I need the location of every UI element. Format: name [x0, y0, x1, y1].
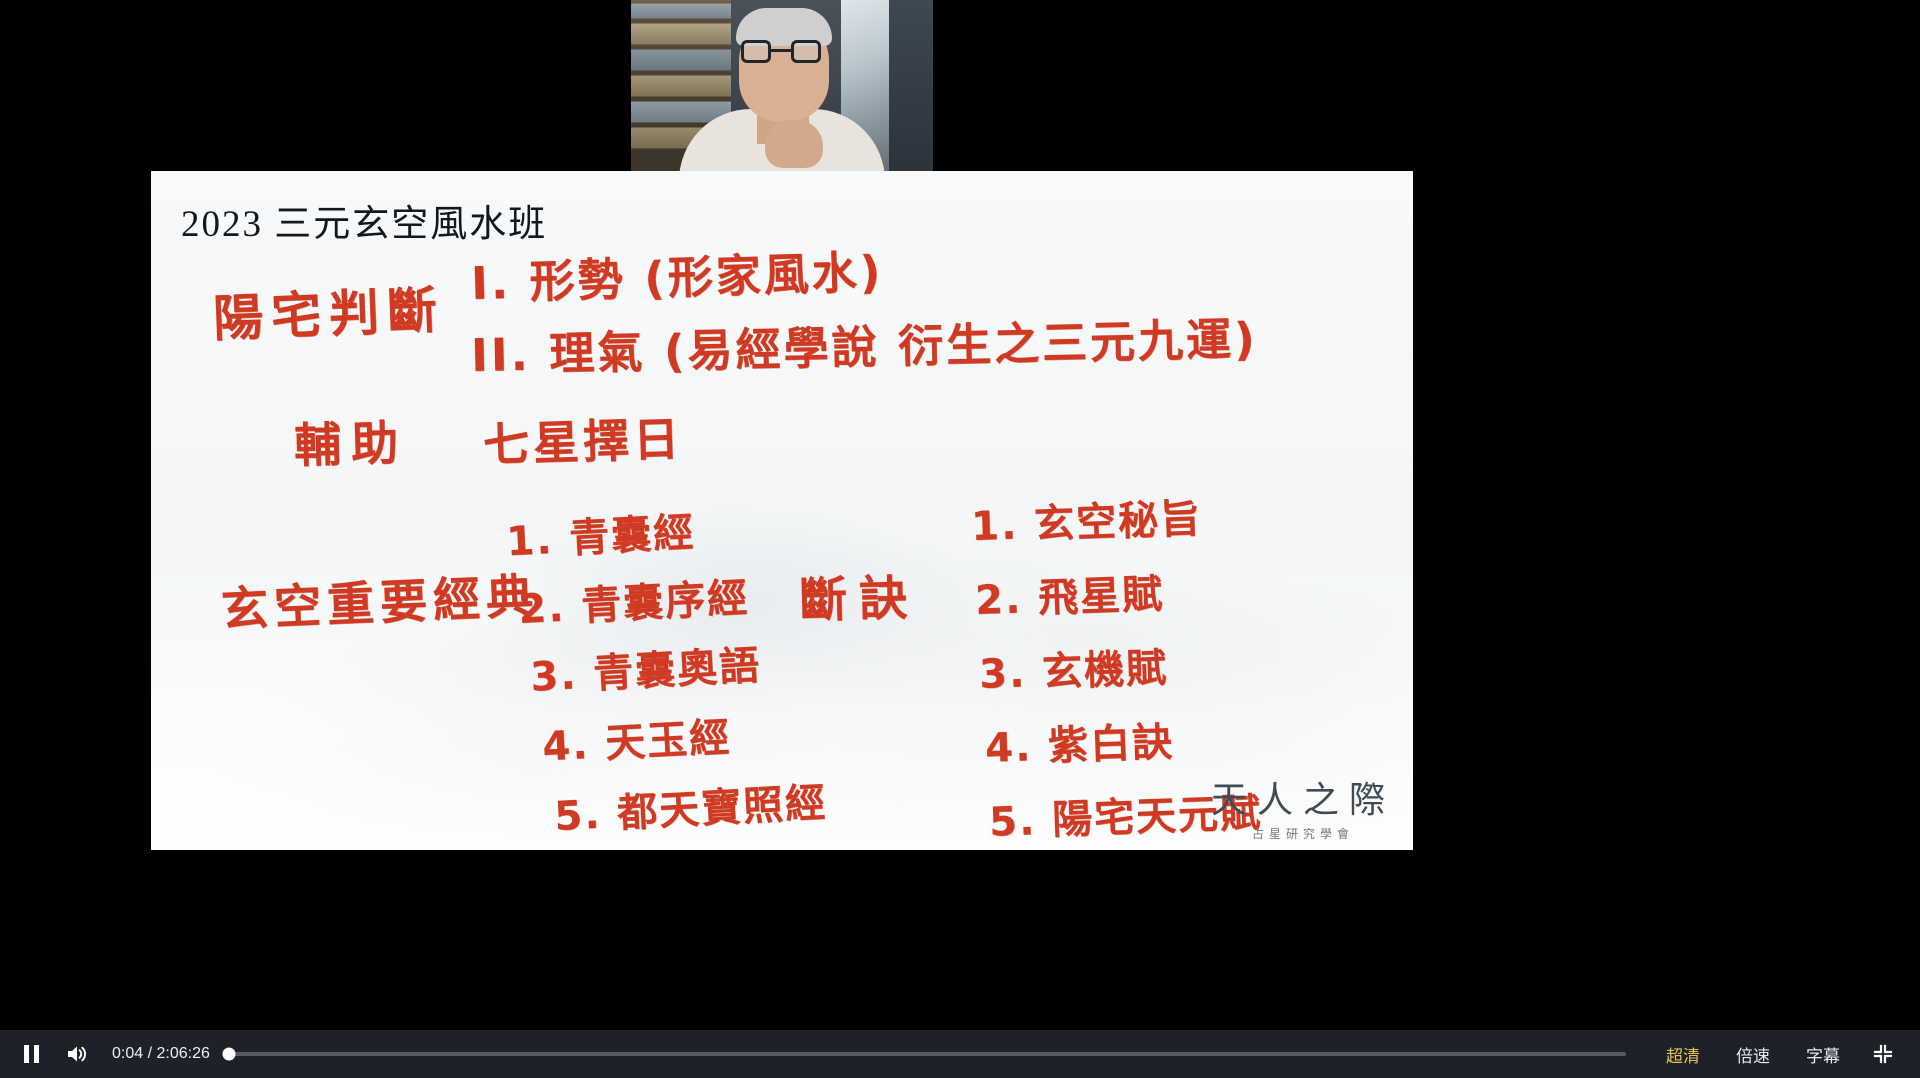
slide-title: 2023 三元玄空風水班 [181, 193, 547, 247]
exit-fullscreen-icon [1873, 1044, 1893, 1064]
playback-speed-button[interactable]: 倍速 [1718, 1042, 1788, 1067]
list-item: 2. 飛星賦 [974, 558, 1263, 626]
list-item: 3. 青囊奧語 [529, 629, 829, 702]
presentation-slide: 2023 三元玄空風水班 陽宅判斷 I. 形勢 (形家風水) II. 理氣 (易… [151, 171, 1413, 850]
annotation-xuankong-classics-heading: 玄空重要經典 [219, 557, 540, 640]
presenter-hand [765, 120, 823, 168]
annotation-section-two-liqi: II. 理氣 (易經學說 衍生之三元九運) [470, 303, 1258, 384]
slide-watermark: 天人之際 占星研究學會 [1211, 771, 1395, 842]
list-item: 4. 天玉經 [541, 700, 829, 773]
list-item: 1. 青囊經 [505, 493, 829, 568]
watermark-subtitle: 占星研究學會 [1211, 825, 1395, 842]
list-item: 1. 玄空秘旨 [970, 484, 1263, 552]
glasses-left-lens [741, 40, 771, 63]
progress-bar[interactable] [228, 1030, 1626, 1078]
player-control-bar: 0:04 / 2:06:26 超清 倍速 字幕 [0, 1030, 1920, 1078]
quality-button[interactable]: 超清 [1648, 1042, 1718, 1067]
list-item: 3. 玄機賦 [978, 632, 1263, 700]
glasses-right-lens [791, 40, 821, 63]
volume-button[interactable] [54, 1030, 100, 1078]
pause-icon [24, 1045, 39, 1063]
progress-track[interactable] [228, 1052, 1626, 1056]
glasses-bridge [771, 49, 791, 52]
exit-fullscreen-button[interactable] [1858, 1030, 1908, 1078]
annotation-section-one-xingshi: I. 形勢 (形家風水) [470, 236, 884, 312]
wall-panel-background [889, 0, 933, 171]
time-display: 0:04 / 2:06:26 [112, 1045, 210, 1063]
progress-knob[interactable] [222, 1048, 235, 1061]
volume-icon [66, 1044, 88, 1064]
subtitle-button[interactable]: 字幕 [1788, 1042, 1858, 1067]
control-bar-right-group: 超清 倍速 字幕 [1648, 1030, 1908, 1078]
video-player: 2023 三元玄空風水班 陽宅判斷 I. 形勢 (形家風水) II. 理氣 (易… [0, 0, 1920, 1078]
annotation-fuzhu: 輔助 [293, 404, 409, 476]
list-item: 2. 青囊序經 [517, 561, 829, 635]
annotation-qixing-zeri: 七星擇日 [482, 403, 684, 475]
pause-button[interactable] [8, 1030, 54, 1078]
watermark-title: 天人之際 [1211, 771, 1395, 823]
presenter-webcam[interactable] [631, 0, 933, 171]
list-item: 4. 紫白訣 [984, 706, 1263, 774]
annotation-yangzhai-panduan: 陽宅判斷 [212, 270, 447, 351]
list-item: 5. 都天寶照經 [553, 770, 829, 842]
classics-list: 1. 青囊經 2. 青囊序經 3. 青囊奧語 4. 天玉經 5. 都天寶照經 [506, 501, 827, 835]
